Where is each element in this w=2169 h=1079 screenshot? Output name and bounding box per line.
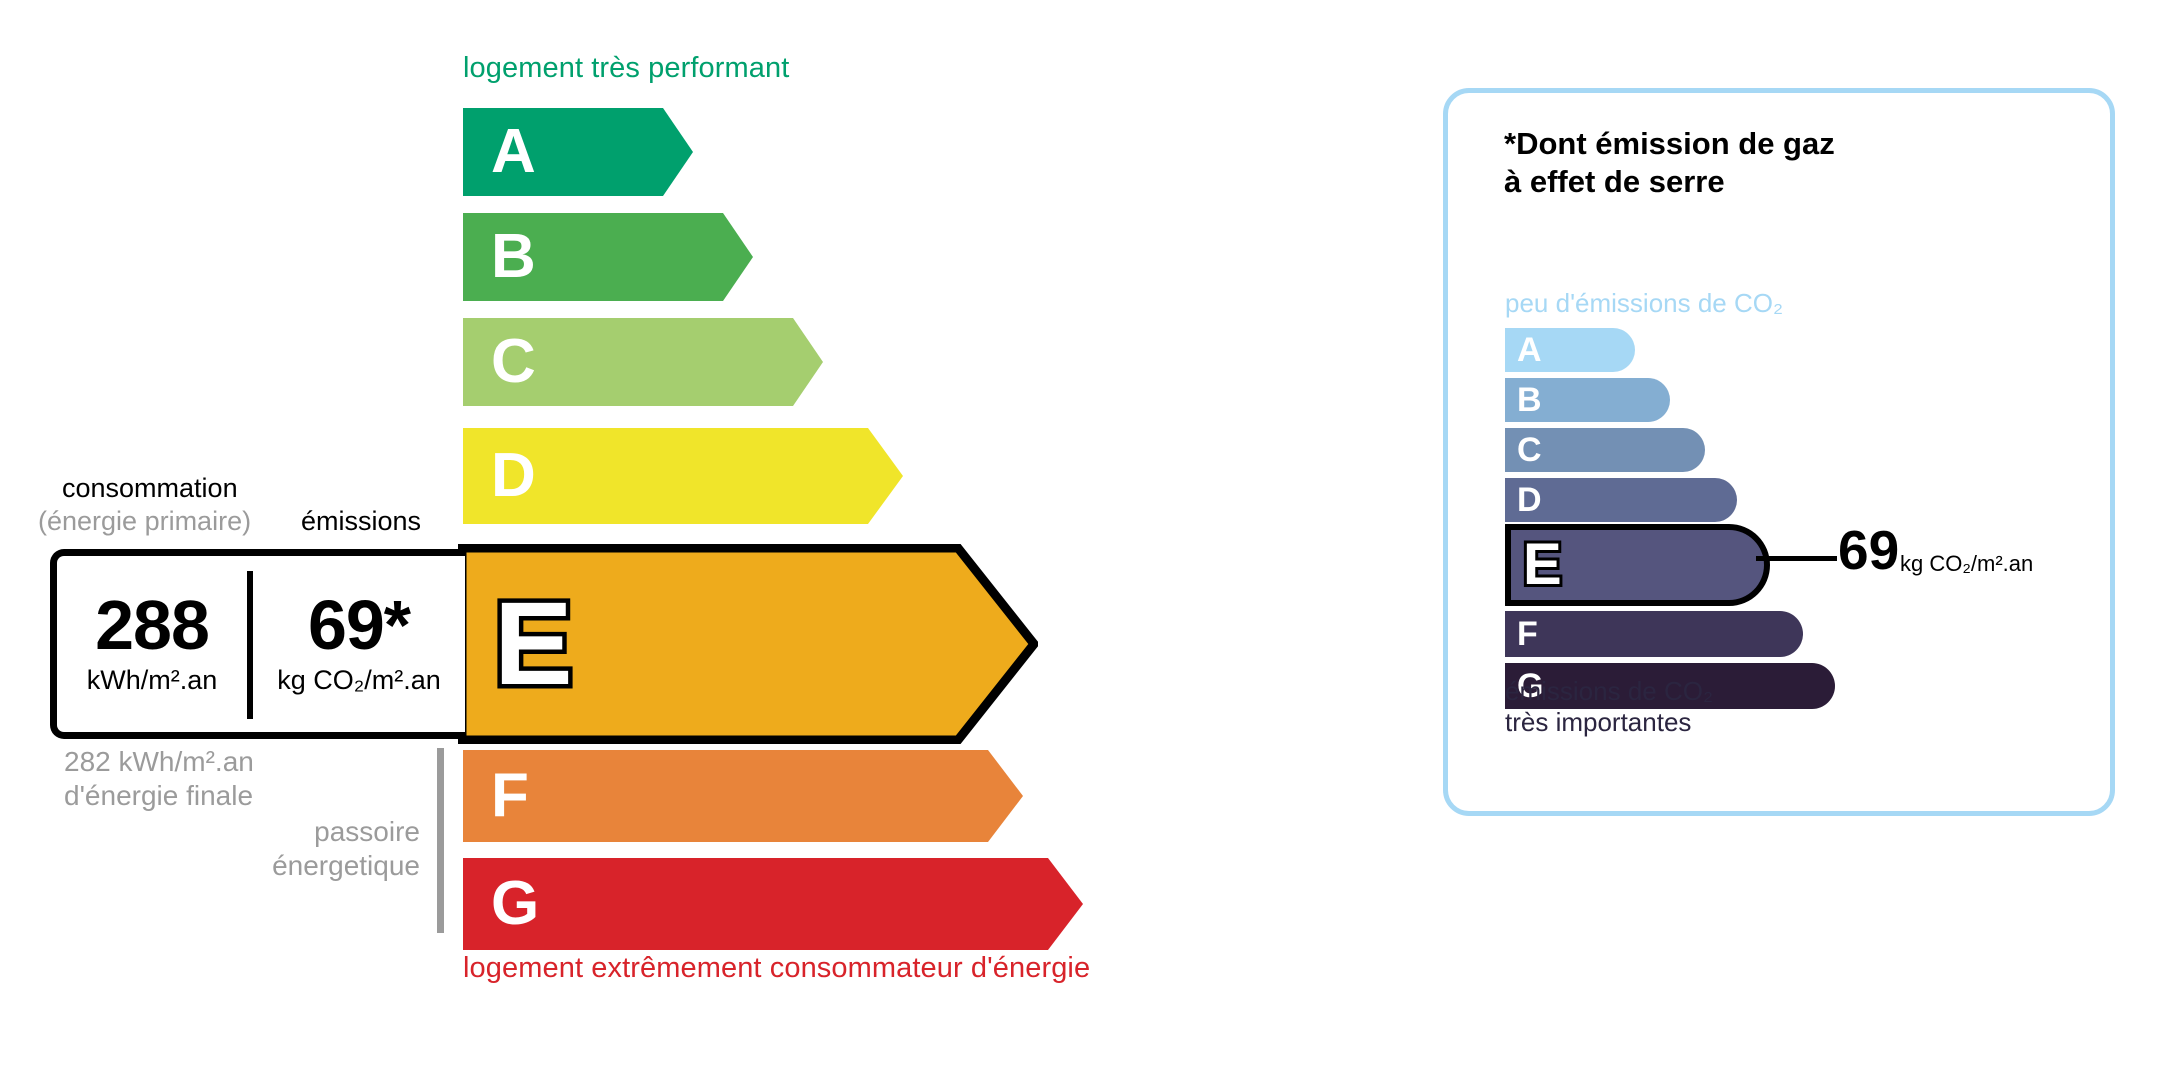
energy-grade-letter-b: B xyxy=(491,226,536,288)
ges-grade-row-f[interactable]: F xyxy=(1505,611,1803,657)
emission-unit: kg CO₂/m².an xyxy=(277,665,441,696)
energy-grade-letter-c: C xyxy=(491,331,536,393)
energy-grade-row-d[interactable]: D xyxy=(463,428,903,524)
primary-energy-cell: 288 kWh/m².an xyxy=(57,556,247,732)
ges-grade-row-c[interactable]: C xyxy=(1505,428,1705,472)
ges-grade-letter-f: F xyxy=(1517,617,1538,651)
energy-grade-row-g[interactable]: G xyxy=(463,858,1083,950)
final-energy-line2: d'énergie finale xyxy=(64,779,254,813)
passoire-energetique-note: passoire énergetique xyxy=(170,815,420,884)
ges-bottom-caption: émissions de CO₂ très importantes xyxy=(1505,676,1713,738)
label-energie-primaire: (énergie primaire) xyxy=(38,506,251,537)
ges-grade-row-e-highlighted[interactable]: E xyxy=(1505,524,1770,606)
ges-grade-row-b[interactable]: B xyxy=(1505,378,1670,422)
passoire-line1: passoire xyxy=(170,815,420,849)
ges-measured-unit: kg CO₂/m².an xyxy=(1900,551,2033,577)
energy-grade-letter-f: F xyxy=(491,765,529,827)
passoire-bracket xyxy=(437,748,444,933)
arrow-shape-f xyxy=(463,750,1023,842)
energy-grade-letter-g: G xyxy=(491,873,539,935)
energy-grade-letter-e: E xyxy=(494,585,573,703)
energy-performance-diagram: logement très performant A B C xyxy=(0,0,1400,1079)
energy-grade-row-c[interactable]: C xyxy=(463,318,823,406)
ges-grade-row-d[interactable]: D xyxy=(1505,478,1737,522)
ges-bottom-caption-line1: émissions de CO₂ xyxy=(1505,676,1713,707)
emission-cell: 69* kg CO₂/m².an xyxy=(253,556,465,732)
energy-grade-row-f[interactable]: F xyxy=(463,750,1023,842)
ges-grade-row-a[interactable]: A xyxy=(1505,328,1635,372)
ges-panel: *Dont émission de gaz à effet de serre p… xyxy=(1443,88,2115,816)
energy-top-caption: logement très performant xyxy=(463,52,789,85)
ges-grade-letter-a: A xyxy=(1517,333,1542,367)
ges-grade-letter-e: E xyxy=(1523,536,1562,594)
label-emissions: émissions xyxy=(301,506,421,537)
energy-grade-row-a[interactable]: A xyxy=(463,108,693,196)
energy-bottom-caption: logement extrêmement consommateur d'éner… xyxy=(463,952,1090,985)
ges-leader-line xyxy=(1756,556,1837,561)
ges-grade-letter-c: C xyxy=(1517,433,1542,467)
energy-grade-letter-a: A xyxy=(491,121,536,183)
final-energy-line1: 282 kWh/m².an xyxy=(64,745,254,779)
dpe-value-box: 288 kWh/m².an 69* kg CO₂/m².an xyxy=(50,549,465,739)
arrow-shape-g xyxy=(463,858,1083,950)
passoire-line2: énergetique xyxy=(170,849,420,883)
ges-bar-f xyxy=(1505,611,1803,657)
energy-grade-letter-d: D xyxy=(491,445,536,507)
emission-value: 69* xyxy=(308,592,410,659)
primary-energy-unit: kWh/m².an xyxy=(87,665,218,696)
ges-grade-letter-b: B xyxy=(1517,383,1542,417)
ges-title-line1: *Dont émission de gaz xyxy=(1504,125,1835,163)
primary-energy-value: 288 xyxy=(95,592,209,659)
energy-grade-row-b[interactable]: B xyxy=(463,213,753,301)
ges-top-caption: peu d'émissions de CO₂ xyxy=(1505,288,1783,319)
label-consommation: consommation xyxy=(62,473,238,504)
energy-grade-row-e-highlighted[interactable]: E xyxy=(458,544,1038,744)
ges-grade-letter-d: D xyxy=(1517,483,1542,517)
ges-measured-value: 69 xyxy=(1838,523,1899,578)
ges-bottom-caption-line2: très importantes xyxy=(1505,707,1713,738)
final-energy-note: 282 kWh/m².an d'énergie finale xyxy=(64,745,254,814)
ges-title-line2: à effet de serre xyxy=(1504,163,1835,201)
ges-panel-title: *Dont émission de gaz à effet de serre xyxy=(1504,125,1835,201)
